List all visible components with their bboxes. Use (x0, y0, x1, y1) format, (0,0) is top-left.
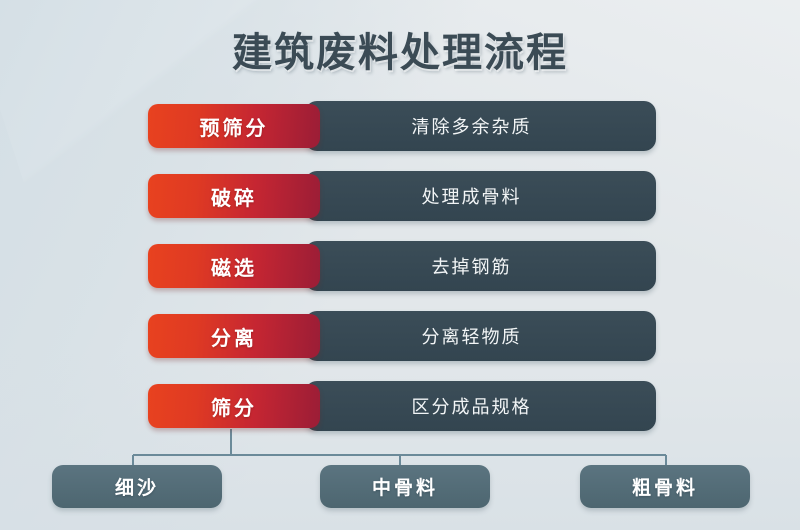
flow-step-description-bar: 分离轻物质 (305, 311, 656, 361)
flow-step-stage-pill[interactable]: 预筛分 (148, 104, 320, 148)
output-box-fine-sand[interactable]: 细沙 (52, 465, 222, 508)
output-box-label: 中骨料 (372, 473, 438, 500)
output-box-medium-aggregate[interactable]: 中骨料 (320, 465, 490, 508)
output-box-label: 粗骨料 (632, 473, 698, 500)
page-title: 建筑废料处理流程 (0, 20, 800, 78)
flow-step-stage-label: 磁选 (211, 252, 257, 281)
flow-step-stage-label: 破碎 (211, 182, 257, 211)
flow-step-stage-label: 筛分 (211, 392, 257, 421)
flow-step-description: 处理成骨料 (422, 183, 540, 209)
flow-step-description: 分离轻物质 (422, 323, 540, 349)
flow-step-stage-label: 预筛分 (200, 112, 269, 141)
flow-step-stage-pill[interactable]: 分离 (148, 314, 320, 358)
flow-step-stage-pill[interactable]: 破碎 (148, 174, 320, 218)
flow-step-stage-pill[interactable]: 磁选 (148, 244, 320, 288)
output-box-label: 细沙 (115, 473, 159, 500)
flow-step-row: 处理成骨料 破碎 (148, 171, 656, 221)
flow-step-row: 清除多余杂质 预筛分 (148, 101, 656, 151)
flow-step-row: 区分成品规格 筛分 (148, 381, 656, 431)
infographic-canvas: 建筑废料处理流程 清除多余杂质 预筛分 处理成骨料 破碎 去掉钢筋 磁选 分离轻… (0, 0, 800, 530)
flow-step-description: 区分成品规格 (412, 393, 550, 419)
output-box-coarse-aggregate[interactable]: 粗骨料 (580, 465, 750, 508)
flow-step-description-bar: 处理成骨料 (305, 171, 656, 221)
flow-step-stage-label: 分离 (211, 322, 257, 351)
flow-step-description-bar: 区分成品规格 (305, 381, 656, 431)
flow-step-stage-pill[interactable]: 筛分 (148, 384, 320, 428)
flow-step-row: 分离轻物质 分离 (148, 311, 656, 361)
flow-step-description: 清除多余杂质 (412, 113, 550, 139)
flow-step-description: 去掉钢筋 (432, 253, 530, 279)
flow-step-description-bar: 清除多余杂质 (305, 101, 656, 151)
flow-step-description-bar: 去掉钢筋 (305, 241, 656, 291)
flow-step-row: 去掉钢筋 磁选 (148, 241, 656, 291)
